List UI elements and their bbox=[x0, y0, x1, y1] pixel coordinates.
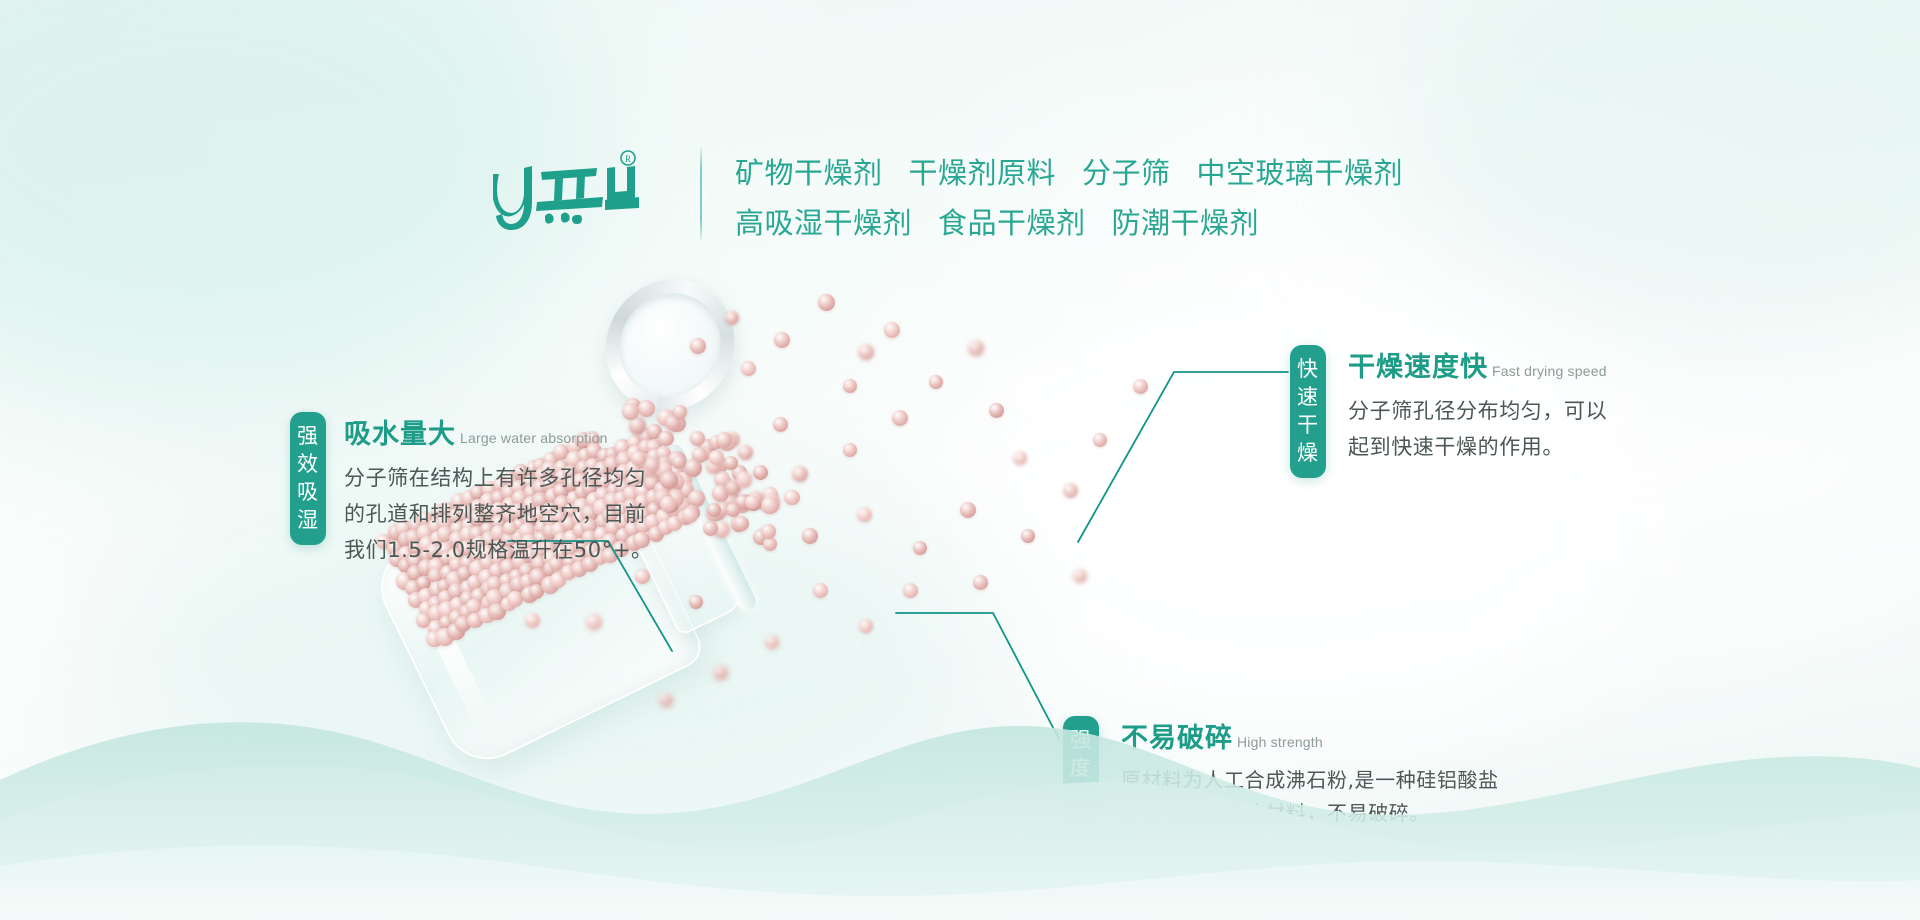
badge-char: 速 bbox=[1290, 383, 1326, 411]
desiccant-bead bbox=[1063, 483, 1078, 498]
desiccant-bead bbox=[525, 613, 540, 628]
desiccant-bead bbox=[684, 459, 702, 477]
desiccant-bead bbox=[859, 619, 873, 633]
callout-subtitle: Fast drying speed bbox=[1492, 363, 1607, 379]
desiccant-bead bbox=[960, 502, 976, 518]
badge-char: 强 bbox=[290, 422, 326, 450]
header-keyword[interactable]: 干燥剂原料 bbox=[909, 148, 1057, 198]
desiccant-bead bbox=[660, 471, 678, 489]
badge-char: 快 bbox=[1290, 355, 1326, 383]
desiccant-bead bbox=[725, 311, 739, 325]
header-keyword[interactable]: 防潮干燥剂 bbox=[1112, 198, 1260, 248]
desiccant-bead bbox=[973, 575, 988, 590]
desiccant-bead bbox=[761, 497, 779, 515]
desiccant-bead bbox=[761, 524, 776, 539]
callout-title-row-top: 干燥速度快 Fast drying speed bbox=[1348, 345, 1607, 384]
desiccant-bead bbox=[784, 490, 800, 506]
badge-char: 干 bbox=[1290, 411, 1326, 439]
desiccant-bead bbox=[857, 507, 872, 522]
desiccant-bead bbox=[586, 614, 602, 630]
desiccant-bead bbox=[672, 455, 686, 469]
desiccant-bead bbox=[765, 635, 779, 649]
desiccant-bead bbox=[660, 496, 676, 512]
desiccant-bead bbox=[968, 340, 984, 356]
header-keyword[interactable]: 高吸湿干燥剂 bbox=[735, 198, 912, 248]
desiccant-bead bbox=[736, 471, 752, 487]
callout-body-left: 吸水量大 Large water absorption 分子筛在结构上有许多孔径… bbox=[344, 412, 653, 568]
desiccant-bead bbox=[635, 569, 650, 584]
desiccant-bead bbox=[709, 450, 724, 465]
desiccant-bead bbox=[745, 495, 759, 509]
desiccant-bead bbox=[690, 338, 706, 354]
desiccant-bead bbox=[802, 528, 818, 544]
desiccant-bead bbox=[892, 410, 908, 426]
desiccant-bead bbox=[741, 361, 756, 376]
svg-text:R: R bbox=[625, 154, 631, 164]
desiccant-bead bbox=[773, 417, 788, 432]
desiccant-bead bbox=[734, 516, 749, 531]
desiccant-bead bbox=[884, 322, 900, 338]
desiccant-bead bbox=[843, 379, 857, 393]
desiccant-bead bbox=[689, 595, 703, 609]
desiccant-bead bbox=[818, 294, 835, 311]
desiccant-bead bbox=[682, 507, 698, 523]
brand-logo-mark: R bbox=[493, 150, 653, 235]
desiccant-bead bbox=[843, 443, 857, 457]
desiccant-bead bbox=[813, 583, 828, 598]
banner-header: R 矿物干燥剂干燥剂原料分子筛中空玻璃干燥剂 高吸湿干燥剂食品干燥剂防潮干燥剂 bbox=[0, 0, 1920, 270]
desiccant-bead bbox=[989, 403, 1004, 418]
desiccant-bead bbox=[913, 541, 927, 555]
header-keyword[interactable]: 中空玻璃干燥剂 bbox=[1197, 148, 1404, 198]
callout-title-row-left: 吸水量大 Large water absorption bbox=[344, 412, 653, 451]
desiccant-bead bbox=[738, 445, 753, 460]
desiccant-bead bbox=[724, 456, 738, 470]
desiccant-bead bbox=[792, 466, 808, 482]
header-keyword-row-2: 高吸湿干燥剂食品干燥剂防潮干燥剂 bbox=[735, 198, 1555, 248]
desiccant-bead bbox=[673, 405, 687, 419]
badge-char: 燥 bbox=[1290, 439, 1326, 467]
desiccant-bead bbox=[929, 375, 943, 389]
callout-fast-drying-speed: 快 速 干 燥 干燥速度快 Fast drying speed 分子筛孔径分布均… bbox=[1290, 345, 1607, 478]
desiccant-bead bbox=[716, 432, 732, 448]
banner-stage: R 矿物干燥剂干燥剂原料分子筛中空玻璃干燥剂 高吸湿干燥剂食品干燥剂防潮干燥剂 … bbox=[0, 0, 1920, 920]
desiccant-bead bbox=[1013, 451, 1027, 465]
header-keyword[interactable]: 分子筛 bbox=[1082, 148, 1171, 198]
brand-logo[interactable]: R bbox=[493, 150, 653, 235]
desiccant-bead bbox=[703, 521, 718, 536]
callout-large-water-absorption: 强 效 吸 湿 吸水量大 Large water absorption 分子筛在… bbox=[290, 412, 653, 568]
badge-char: 吸 bbox=[290, 478, 326, 506]
header-divider bbox=[700, 148, 702, 240]
callout-description: 分子筛在结构上有许多孔径均匀 的孔道和排列整齐地空穴，目前 我们1.5-2.0规… bbox=[344, 460, 653, 568]
desiccant-bead bbox=[1021, 529, 1035, 543]
callout-subtitle: Large water absorption bbox=[460, 430, 608, 446]
callout-badge-top: 快 速 干 燥 bbox=[1290, 345, 1326, 478]
header-keyword-row-1: 矿物干燥剂干燥剂原料分子筛中空玻璃干燥剂 bbox=[735, 148, 1555, 198]
desiccant-bead bbox=[903, 583, 918, 598]
header-keyword[interactable]: 矿物干燥剂 bbox=[735, 148, 883, 198]
header-keyword[interactable]: 食品干燥剂 bbox=[938, 198, 1086, 248]
desiccant-bead bbox=[658, 431, 674, 447]
callout-badge-left: 强 效 吸 湿 bbox=[290, 412, 326, 545]
callout-title: 干燥速度快 bbox=[1348, 345, 1488, 384]
header-keyword-list: 矿物干燥剂干燥剂原料分子筛中空玻璃干燥剂 高吸湿干燥剂食品干燥剂防潮干燥剂 bbox=[735, 148, 1555, 248]
desiccant-bead bbox=[1133, 379, 1148, 394]
callout-description: 分子筛孔径分布均匀，可以 起到快速干燥的作用。 bbox=[1348, 393, 1607, 465]
badge-char: 湿 bbox=[290, 506, 326, 534]
desiccant-bead bbox=[753, 465, 768, 480]
desiccant-bead bbox=[763, 537, 777, 551]
desiccant-bead bbox=[1093, 433, 1107, 447]
desiccant-bead bbox=[858, 344, 874, 360]
badge-char: 效 bbox=[290, 450, 326, 478]
callout-body-top: 干燥速度快 Fast drying speed 分子筛孔径分布均匀，可以 起到快… bbox=[1348, 345, 1607, 465]
desiccant-bead bbox=[774, 332, 790, 348]
desiccant-bead bbox=[1073, 569, 1087, 583]
wave-decoration bbox=[0, 660, 1920, 920]
callout-title: 吸水量大 bbox=[344, 412, 456, 451]
